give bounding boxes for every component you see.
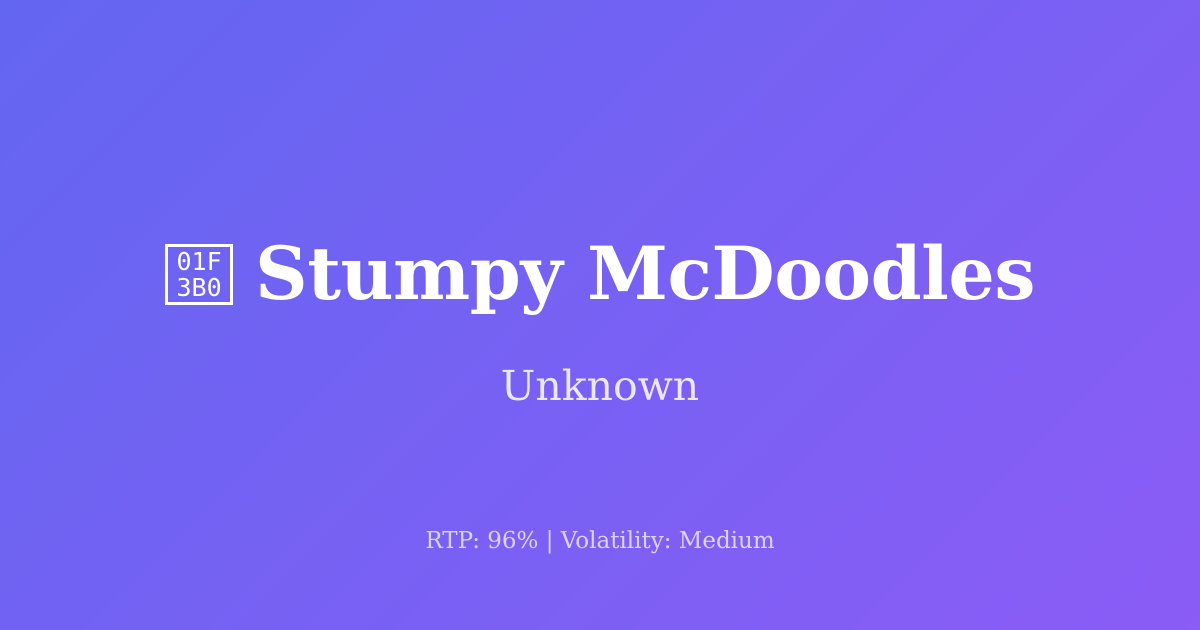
game-preview-card: 01F 3B0 Stumpy McDoodles Unknown RTP: 96… — [0, 0, 1200, 630]
game-provider: Unknown — [0, 358, 1200, 414]
game-title: Stumpy McDoodles — [255, 228, 1035, 320]
missing-glyph-codepoint-top: 01F — [176, 249, 221, 275]
missing-glyph-box: 01F 3B0 — [165, 244, 233, 305]
title-row: 01F 3B0 Stumpy McDoodles — [0, 228, 1200, 320]
missing-glyph-codepoint-bottom: 3B0 — [176, 275, 221, 301]
game-stats: RTP: 96% | Volatility: Medium — [0, 524, 1200, 558]
slot-machine-icon: 01F 3B0 — [165, 244, 233, 305]
